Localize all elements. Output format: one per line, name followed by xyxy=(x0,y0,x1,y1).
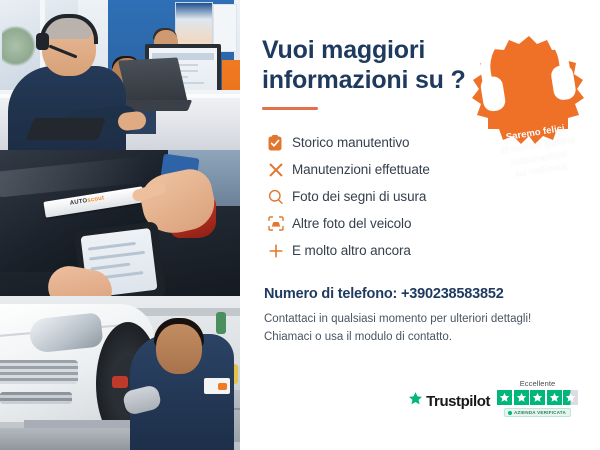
clipboard-check-icon xyxy=(268,135,292,151)
trustpilot-star-icon xyxy=(408,391,423,411)
headline-line-1: Vuoi maggiori xyxy=(262,36,425,64)
plate-suffix: scout xyxy=(87,195,105,204)
trustpilot-logo-text: Trustpilot xyxy=(426,393,490,410)
star-filled xyxy=(514,390,529,405)
trustpilot-rating-label: Eccellente xyxy=(520,379,556,388)
list-item: Foto dei segni di usura xyxy=(268,183,582,210)
trustpilot-logo: Trustpilot xyxy=(408,391,490,417)
feature-label: E molto altro ancora xyxy=(292,243,411,258)
star-half xyxy=(563,390,578,405)
list-item: Manutenzioni effettuate xyxy=(268,156,582,183)
page-title: Vuoi maggiori informazioni su ? xyxy=(262,0,472,95)
contact-block: Numero di telefono: +390238583852 Contat… xyxy=(262,264,582,347)
verified-badge: AZIENDA VERIFICATA xyxy=(504,408,571,417)
star-filled xyxy=(530,390,545,405)
trustpilot-rating: Eccellente AZIENDA VERIFICATA xyxy=(497,379,578,417)
feature-label: Altre foto del veicolo xyxy=(292,216,411,231)
verified-check-icon xyxy=(508,411,512,415)
promo-card: AUTOscout xyxy=(0,0,600,450)
photo-workshop-wheel xyxy=(0,296,240,450)
contact-subtext-line-2: Chiamaci o usa il modulo di contatto. xyxy=(264,331,452,343)
contact-subtext-line-1: Contattaci in qualsiasi momento per ulte… xyxy=(264,313,531,325)
photo-column: AUTOscout xyxy=(0,0,240,450)
photo-call-centre xyxy=(0,0,240,150)
trustpilot-stars xyxy=(497,390,578,405)
crossed-tools-icon xyxy=(268,162,292,178)
plus-icon xyxy=(268,243,292,259)
headline-line-2: informazioni su ? xyxy=(262,66,466,94)
content-panel: Vuoi maggiori informazioni su ? Saremo f… xyxy=(240,0,600,450)
list-item: E molto altro ancora xyxy=(268,237,582,264)
trustpilot-widget[interactable]: Trustpilot Eccellente AZIENDA VERIFICATA xyxy=(408,379,578,417)
star-filled xyxy=(547,390,562,405)
feature-label: Foto dei segni di usura xyxy=(292,189,426,204)
contact-subtext: Contattaci in qualsiasi momento per ulte… xyxy=(264,311,564,347)
verified-badge-text: AZIENDA VERIFICATA xyxy=(514,410,566,415)
magnifier-icon xyxy=(268,189,292,205)
photo-plate-scan: AUTOscout xyxy=(0,150,240,296)
phone-number[interactable]: Numero di telefono: +390238583852 xyxy=(264,286,582,302)
list-item: Altre foto del veicolo xyxy=(268,210,582,237)
star-filled xyxy=(497,390,512,405)
feature-label: Manutenzioni effettuate xyxy=(292,162,430,177)
plate-prefix: AUTO xyxy=(70,198,88,207)
callout-badge: Saremo felici di fornirti queste informa… xyxy=(470,34,588,152)
feature-label: Storico manutentivo xyxy=(292,135,409,150)
scan-car-icon xyxy=(268,216,292,231)
